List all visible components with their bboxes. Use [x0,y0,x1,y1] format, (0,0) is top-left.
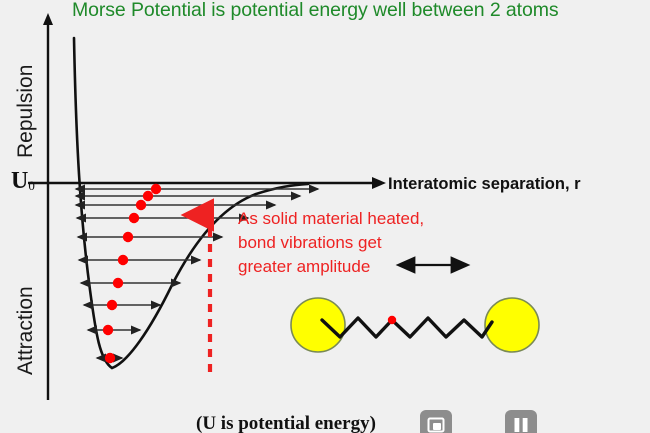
bond-center-dot [388,316,396,324]
page-title: Morse Potential is potential energy well… [72,0,650,22]
pause-button[interactable] [505,410,537,433]
y-axis-arrowhead [43,13,53,25]
x-axis [28,177,386,189]
y-axis-label-attraction: Attraction [14,286,38,375]
pause-icon [505,410,537,433]
heating-annotation: As solid material heated, bond vibration… [238,207,424,279]
bond-spring [322,318,492,337]
zero-energy-symbol: U [11,168,28,194]
morse-potential-slide: Morse Potential is potential energy well… [0,0,650,433]
diatomic-molecule [291,298,539,352]
y-axis [43,13,53,400]
annotation-line-2: bond vibrations get [238,231,424,255]
annotation-line-1: As solid material heated, [238,207,424,231]
pip-icon [420,410,452,433]
right-atom [485,298,539,352]
picture-in-picture-button[interactable] [420,410,452,433]
morse-potential-curve [74,38,308,368]
x-axis-label: Interatomic separation, r [388,175,581,194]
left-atom [291,298,345,352]
y-axis-label-repulsion: Repulsion [14,65,38,158]
x-axis-arrowhead [372,177,386,189]
zero-energy-label: U0 [11,168,35,195]
annotation-line-3: greater amplitude [238,255,370,279]
figure-caption: (U is potential energy) [196,413,376,433]
vibrational-level-dots [103,184,161,363]
zero-energy-subscript: 0 [28,178,35,193]
